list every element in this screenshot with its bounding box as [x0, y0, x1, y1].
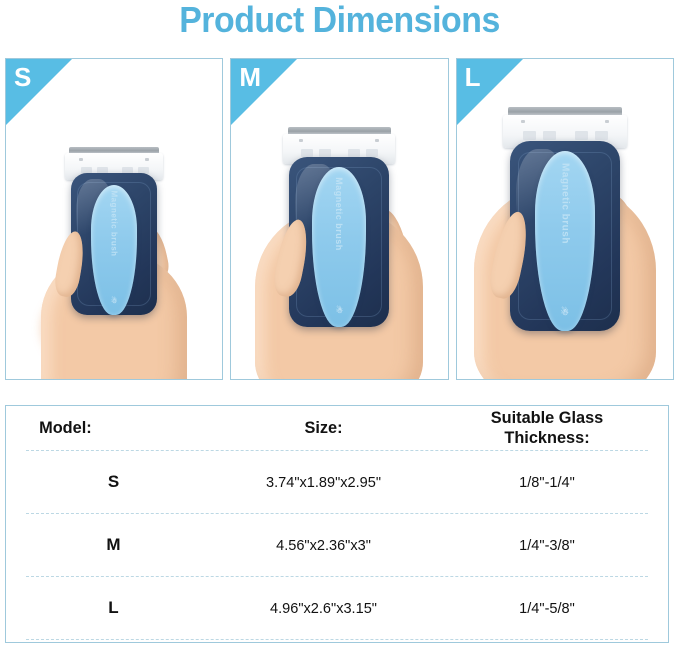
size-badge-label: M: [239, 62, 261, 92]
row-divider: [26, 639, 648, 640]
table-row: M 4.56"x2.36"x3" 1/4"-3/8": [6, 514, 668, 576]
table-row: L 4.96"x2.6"x3.15" 1/4"-5/8": [6, 577, 668, 639]
dimensions-table: Model: Size: Suitable Glass Thickness: S…: [5, 405, 669, 643]
holder-screw: [79, 158, 83, 161]
holder-notch: [366, 149, 378, 157]
holder-notch: [301, 149, 313, 157]
holder-screw: [605, 120, 609, 123]
cell-thickness: 1/4"-5/8": [449, 600, 645, 617]
cell-thickness: 1/4"-3/8": [449, 537, 645, 554]
brand-logo-icon: ☃: [561, 308, 569, 317]
holder-notch: [595, 131, 608, 140]
product-label: Magnetic brush: [559, 163, 570, 244]
product-label: Magnetic brush: [334, 177, 344, 251]
cell-model: M: [26, 535, 201, 555]
product-panel-s: S: [5, 58, 223, 380]
brand-logo-icon: ☃: [336, 307, 343, 315]
logo-mark: ☃: [561, 308, 569, 317]
table-row: S 3.74"x1.89"x2.95" 1/8"-1/4": [6, 451, 668, 513]
brand-logo-icon: ☃: [111, 298, 117, 305]
cell-model: L: [26, 598, 201, 618]
cell-size: 4.96"x2.6"x3.15": [205, 600, 443, 617]
product-panel-l: L Magneti: [456, 58, 674, 380]
holder-notch: [319, 149, 331, 157]
cell-model: S: [26, 472, 201, 492]
holder-notch: [348, 149, 360, 157]
holder-screw: [145, 158, 149, 161]
table-header-row: Model: Size: Suitable Glass Thickness:: [6, 406, 668, 450]
product-label: Magnetic brush: [110, 190, 119, 256]
column-header-thickness: Suitable Glass Thickness:: [450, 408, 644, 448]
logo-mark: ☃: [336, 307, 343, 315]
cell-thickness: 1/8"-1/4": [449, 474, 645, 491]
page-title: Product Dimensions: [20, 0, 658, 42]
holder-notch: [523, 131, 536, 140]
holder-screw: [375, 139, 379, 142]
holder-notch: [575, 131, 588, 140]
column-header-size: Size:: [206, 418, 441, 438]
cell-size: 4.56"x2.36"x3": [205, 537, 443, 554]
column-header-model: Model:: [30, 418, 198, 438]
size-badge-label: S: [14, 62, 31, 92]
product-panels: S: [5, 58, 674, 380]
holder-notch: [543, 131, 556, 140]
holder-screw: [299, 139, 303, 142]
cell-size: 3.74"x1.89"x2.95": [205, 474, 443, 491]
size-badge-label: L: [465, 62, 481, 92]
product-panel-m: M Magneti: [230, 58, 448, 380]
logo-mark: ☃: [111, 298, 117, 305]
